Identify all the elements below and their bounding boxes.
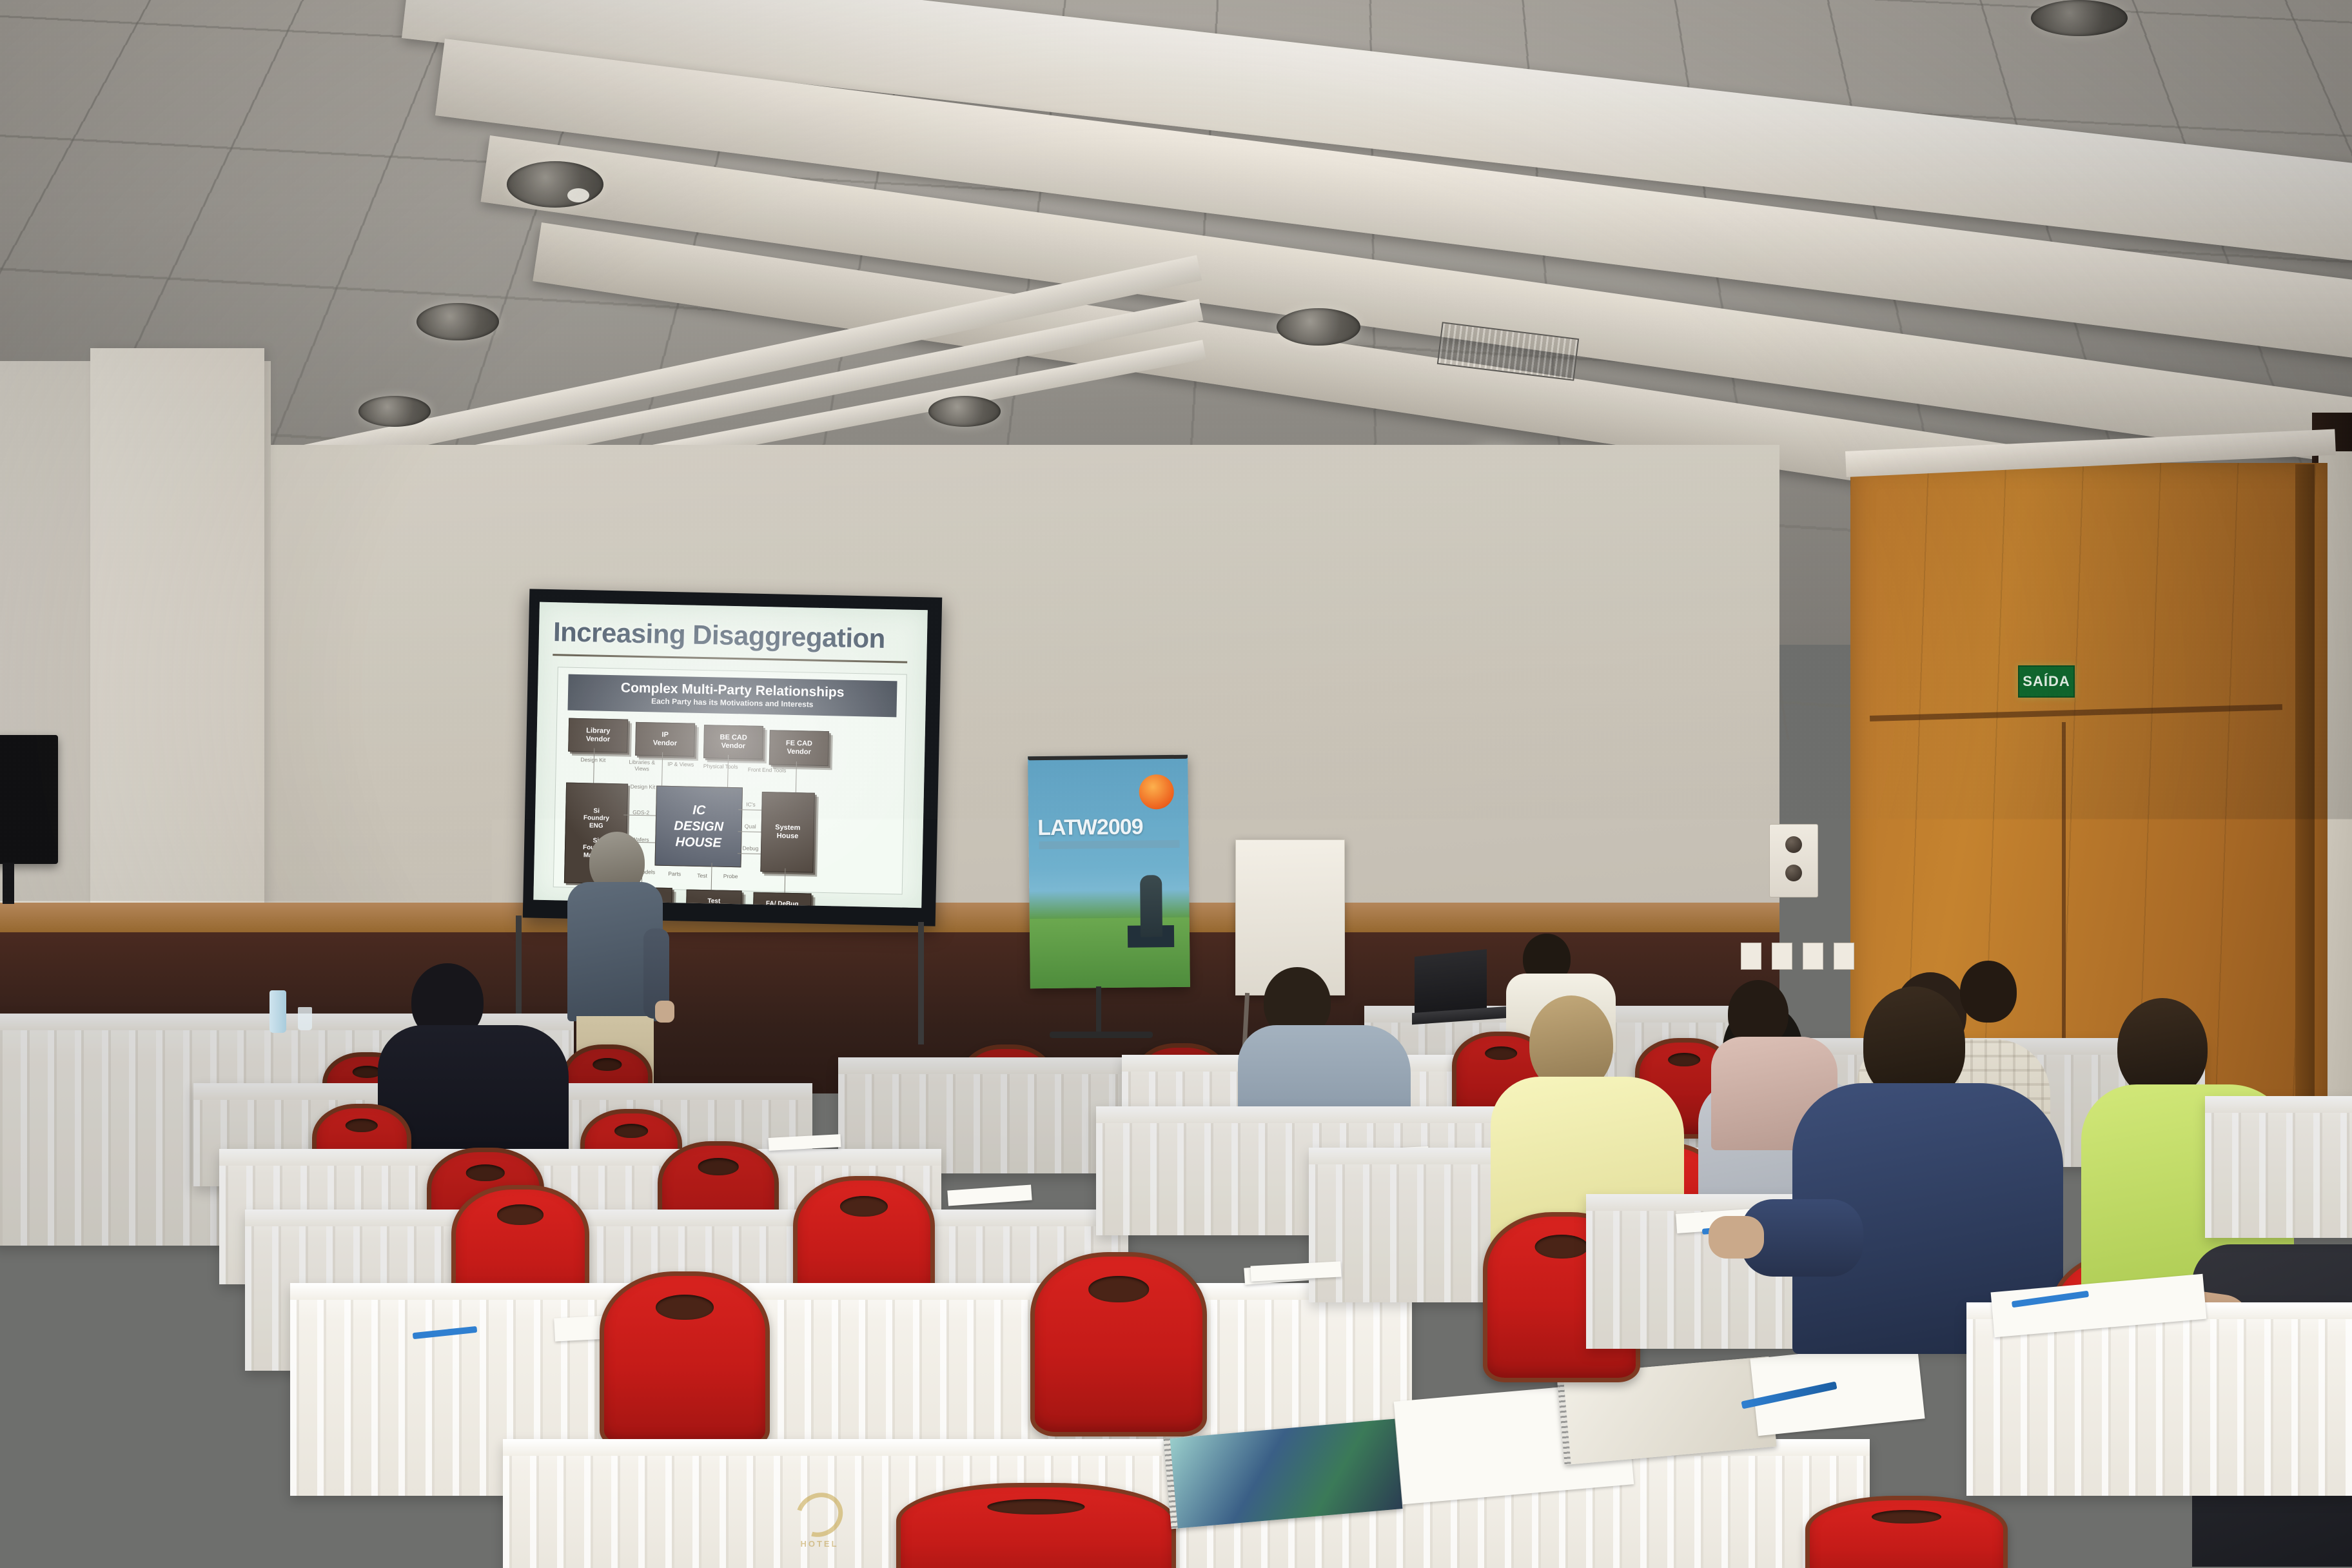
diagram-edge xyxy=(796,761,797,792)
diagram-edge xyxy=(785,868,786,893)
banner-subtitle-bar xyxy=(1039,840,1180,849)
table-top xyxy=(2205,1096,2352,1113)
chair-back-cutout xyxy=(987,1499,1084,1514)
downlight-highlight xyxy=(567,188,589,202)
table-top xyxy=(245,1210,1128,1226)
chair-back-cutout xyxy=(593,1058,622,1071)
exit-sign-label: SAÍDA xyxy=(2023,674,2070,689)
chair-back xyxy=(1805,1496,2008,1568)
wall-outlet-plate xyxy=(1803,943,1823,970)
slide-title: Increasing Disaggregation xyxy=(553,616,911,655)
banner-monument-statue xyxy=(1140,875,1162,937)
diagram-edge xyxy=(661,752,663,786)
chair-back-cutout xyxy=(840,1196,888,1217)
diagram-edge xyxy=(593,748,594,783)
diagram-node-library-vendor: Library Vendor xyxy=(568,718,628,753)
chair-back-cutout xyxy=(466,1164,505,1181)
conference-banner: LATW2009 xyxy=(1028,755,1190,989)
diagram-edge-label-test: Test xyxy=(693,873,711,879)
table-paper xyxy=(947,1184,1032,1206)
diagram-edge-label-front-end-tools: Front End Tools xyxy=(747,767,787,774)
ceiling-downlight xyxy=(928,396,1001,427)
door-frame-right xyxy=(2295,464,2315,1148)
chair-back-cutout xyxy=(353,1066,382,1078)
diagram-header-subtitle: Each Party has its Motivations and Inter… xyxy=(651,698,814,709)
water-bottle xyxy=(269,990,286,1033)
hand xyxy=(1709,1216,1764,1259)
banner-top-bar xyxy=(1028,755,1188,761)
screen-leg-right xyxy=(918,922,924,1044)
hotel-logo-ring xyxy=(789,1485,851,1545)
chair-back-cutout xyxy=(1485,1046,1517,1060)
chair-back-cutout xyxy=(497,1204,544,1225)
control-knob-upper[interactable] xyxy=(1785,836,1802,853)
banner-title: LATW2009 xyxy=(1037,814,1182,841)
diagram-node-ip-vendor: IP Vendor xyxy=(635,722,695,757)
diagram-node-system-house: System House xyxy=(760,792,815,873)
chair-back xyxy=(896,1483,1176,1568)
chair[interactable] xyxy=(1030,1252,1198,1427)
chair-back xyxy=(600,1271,770,1448)
wall-outlet-plate xyxy=(1772,943,1792,970)
chair-back-cutout xyxy=(614,1124,648,1138)
torso xyxy=(2073,1007,2177,1097)
drinking-glass xyxy=(298,1007,312,1030)
chair[interactable] xyxy=(1805,1496,1999,1568)
sun-icon xyxy=(1139,774,1174,810)
diagram-node-fe-cad-vendor: FE CAD Vendor xyxy=(769,730,829,766)
diagram-edge-label-qual: Qual xyxy=(741,823,760,830)
slide-title-rule xyxy=(553,654,907,663)
ceiling-downlight xyxy=(416,303,499,340)
diagram-edge-label-ics: IC's xyxy=(741,801,760,808)
monitor-stand xyxy=(3,863,14,904)
chair-back-cutout xyxy=(1535,1235,1589,1259)
diagram-edge-label-libraries-views: Libraries & Views xyxy=(623,759,661,772)
chair-back xyxy=(1030,1252,1207,1436)
diagram-edge-label-design-kit: Design Kit xyxy=(571,757,616,764)
chair-back-cutout xyxy=(346,1119,378,1132)
diagram-node-be-cad-vendor: BE CAD Vendor xyxy=(703,725,763,759)
chair-back-cutout xyxy=(656,1295,714,1320)
wall-monitor xyxy=(0,735,58,864)
diagram-edge-label-parts: Parts xyxy=(665,871,684,877)
chair-back-cutout xyxy=(1088,1276,1149,1302)
diagram-edge-label-ip-views: IP & Views xyxy=(666,761,696,768)
wall-control-panel[interactable] xyxy=(1769,824,1818,897)
torso xyxy=(1945,1012,2054,1109)
ceiling-downlight xyxy=(2031,0,2128,36)
table-top xyxy=(290,1283,1412,1300)
hotel-monogram: HOTEL xyxy=(758,1493,881,1549)
diagram-edge-label-gds2: GDS-2 xyxy=(626,810,656,816)
chair-back-cutout xyxy=(1668,1053,1700,1066)
chair[interactable] xyxy=(600,1271,761,1439)
diagram-edge-label-physical-tools: Physical Tools xyxy=(702,763,740,770)
banner-stand-foot xyxy=(1050,1032,1153,1038)
diagram-edge-label-design-kit-2: Design Kit xyxy=(628,784,658,790)
table-right-far xyxy=(2205,1096,2352,1238)
diagram-node-ic-design-house: IC DESIGN HOUSE xyxy=(654,786,743,868)
table-top xyxy=(219,1149,941,1166)
diagram-edge-label-probe: Probe xyxy=(720,874,741,880)
projection-screen: Increasing Disaggregation Complex Multi-… xyxy=(523,589,943,926)
chair-back-cutout xyxy=(698,1158,739,1175)
chair-back-cutout xyxy=(1872,1510,1941,1524)
diagram-edge xyxy=(727,755,729,787)
wall-outlet-plate xyxy=(1834,943,1854,970)
presenter-hand xyxy=(655,1001,674,1023)
banner-stand-pole xyxy=(1096,986,1101,1038)
wall-outlet-plate xyxy=(1741,943,1761,970)
ceiling-downlight xyxy=(507,161,603,208)
table-skirt xyxy=(2205,1113,2352,1238)
conference-room-photo: SAÍDA Increasing Disaggregation Complex … xyxy=(0,0,2352,1568)
ceiling-downlight xyxy=(358,396,431,427)
ceiling-downlight xyxy=(1277,308,1360,346)
table-skirt xyxy=(1966,1319,2352,1496)
chair[interactable] xyxy=(896,1483,1167,1568)
exit-sign: SAÍDA xyxy=(2018,665,2075,698)
hotel-logo-text: HOTEL xyxy=(800,1539,838,1549)
control-knob-lower[interactable] xyxy=(1785,865,1802,881)
diagram-edge-label-debug: Debug xyxy=(740,845,761,852)
diagram-header-bar: Complex Multi-Party Relationships Each P… xyxy=(567,674,897,718)
